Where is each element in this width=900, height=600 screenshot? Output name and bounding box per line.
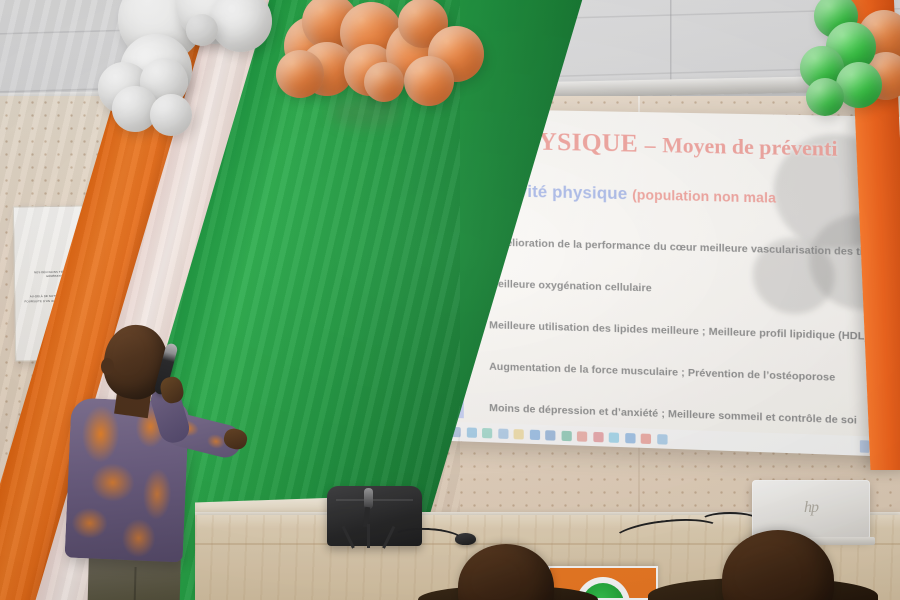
taskbar-app-icon-8[interactable]: [545, 430, 555, 440]
taskbar-app-icon-14[interactable]: [641, 433, 651, 444]
presenter: [60, 325, 250, 600]
balloon-white: [186, 14, 218, 46]
presentation-photo-scene: MINISTÈRE DES MINES, DU PÉTROLE ET DE L’…: [0, 0, 900, 600]
taskbar-app-icon-13[interactable]: [625, 432, 635, 443]
desk-microphone: [344, 488, 394, 548]
taskbar-app-icon-9[interactable]: [561, 430, 571, 440]
row-text: Moins de dépression et d’anxiété ; Meill…: [489, 403, 857, 427]
taskbar-app-icon-12[interactable]: [609, 432, 619, 443]
hp-logo-icon: hp: [804, 499, 818, 517]
row-text: Meilleure oxygénation cellulaire: [489, 279, 652, 295]
row-text: Augmentation de la force musculaire ; Pr…: [489, 362, 835, 384]
trouser-seam: [133, 567, 137, 600]
active-app-indicator[interactable]: [860, 440, 870, 453]
taskbar-app-icon-15[interactable]: [657, 434, 667, 445]
slide-title-dash: –: [645, 132, 656, 157]
row-text: Meilleure utilisation des lipides meille…: [489, 320, 868, 342]
balloon-orange: [276, 50, 324, 98]
slide-subtitle-paren: (population non mala: [632, 187, 776, 206]
taskbar-app-icon-7[interactable]: [529, 429, 539, 439]
taskbar-app-icon-6[interactable]: [514, 429, 524, 439]
slide-title-subtext: Moyen de préventi: [662, 133, 837, 161]
balloon-white: [150, 94, 192, 136]
balloon-orange: [364, 62, 404, 102]
laptop-lid: hp: [752, 480, 870, 538]
presenter-ear: [101, 358, 114, 375]
taskbar-app-icon-4[interactable]: [482, 427, 492, 437]
taskbar-app-icon-5[interactable]: [498, 428, 508, 438]
tripod-leg: [367, 524, 370, 548]
taskbar-app-icon-10[interactable]: [577, 431, 587, 442]
taskbar-app-icon-3[interactable]: [466, 427, 476, 437]
balloon-orange: [404, 56, 454, 106]
taskbar-app-icon-11[interactable]: [593, 431, 603, 442]
hp-laptop: hp: [752, 480, 870, 538]
row-text: Amélioration de la performance du cœur m…: [489, 237, 869, 258]
balloon-green: [806, 78, 844, 116]
tripod-leg: [342, 526, 355, 549]
cable: [700, 512, 760, 530]
